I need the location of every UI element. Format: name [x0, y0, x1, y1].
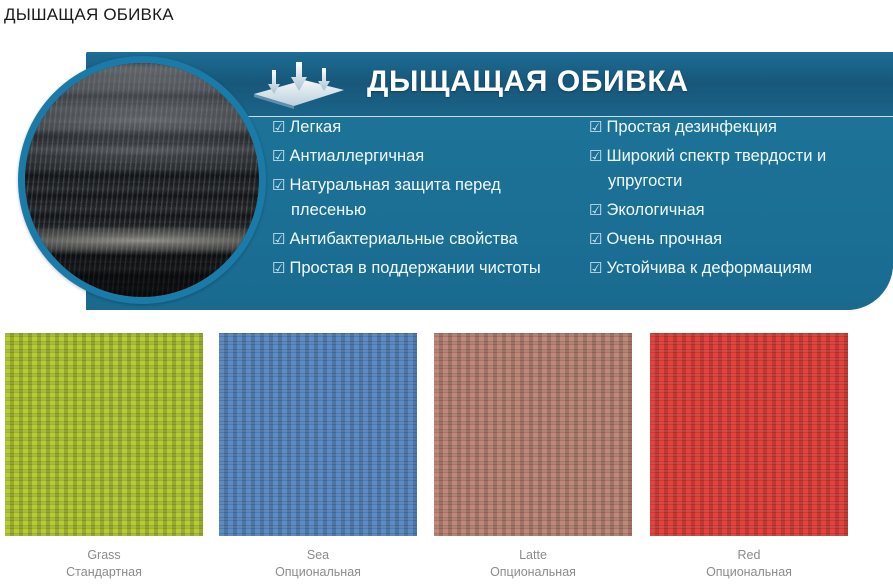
swatch-name: Red: [650, 547, 848, 564]
swatch-sea[interactable]: Sea Опциональная: [219, 333, 417, 581]
swatch-caption: Red Опциональная: [650, 536, 848, 581]
color-swatch-row: Grass Стандартная Sea Опциональная Latte…: [0, 333, 893, 586]
swatch-name: Latte: [434, 547, 632, 564]
feature-item: ☑Антибактериальные свойства: [272, 227, 562, 252]
feature-label: Простая дезинфекция: [606, 118, 776, 136]
feature-item: ☑Устойчива к деформациям: [589, 256, 884, 281]
feature-item: ☑Антиаллергичная: [272, 144, 562, 169]
fabric-texture: [25, 63, 259, 297]
swatch-tile[interactable]: [434, 333, 632, 536]
swatch-availability: Опциональная: [219, 564, 417, 581]
swatch-name: Grass: [5, 547, 203, 564]
swatch-tile[interactable]: [219, 333, 417, 536]
swatch-tile[interactable]: [650, 333, 848, 536]
swatch-availability: Опциональная: [650, 564, 848, 581]
swatch-caption: Latte Опциональная: [434, 536, 632, 581]
swatch-latte[interactable]: Latte Опциональная: [434, 333, 632, 581]
breathability-arrows-icon: [250, 60, 348, 112]
checkbox-icon: ☑: [272, 231, 285, 248]
feature-item: ☑Легкая: [272, 115, 562, 140]
swatch-availability: Опциональная: [434, 564, 632, 581]
checkbox-icon: ☑: [272, 148, 285, 165]
feature-label: Натуральная защита перед плесенью: [289, 176, 500, 219]
checkbox-icon: ☑: [272, 260, 285, 277]
photo-shadow-bottom: [25, 236, 259, 297]
swatch-caption: Grass Стандартная: [5, 536, 203, 581]
feature-label: Антиаллергичная: [289, 147, 424, 165]
checkbox-icon: ☑: [589, 260, 602, 277]
swatch-red[interactable]: Red Опциональная: [650, 333, 848, 581]
feature-label: Антибактериальные свойства: [289, 230, 517, 248]
feature-label: Очень прочная: [606, 230, 722, 248]
swatch-name: Sea: [219, 547, 417, 564]
checkbox-icon: ☑: [589, 119, 602, 136]
feature-item: ☑Простая дезинфекция: [589, 115, 884, 140]
banner-title: ДЫЩАЩАЯ ОБИВКА: [367, 65, 689, 99]
checkbox-icon: ☑: [272, 177, 285, 194]
feature-item: ☑Широкий спектр твердости и упругости: [589, 144, 884, 194]
feature-item: ☑Простая в поддержании чистоты: [272, 256, 562, 281]
feature-item: ☑Очень прочная: [589, 227, 884, 252]
feature-label: Широкий спектр твердости и упругости: [606, 147, 826, 190]
checkbox-icon: ☑: [589, 231, 602, 248]
feature-column-left: ☑Легкая ☑Антиаллергичная ☑Натуральная за…: [272, 115, 562, 285]
checkbox-icon: ☑: [272, 119, 285, 136]
photo-highlight-top: [25, 63, 259, 143]
feature-label: Простая в поддержании чистоты: [289, 259, 540, 277]
feature-label: Экологичная: [606, 201, 704, 219]
swatch-tile[interactable]: [5, 333, 203, 536]
feature-item: ☑Экологичная: [589, 198, 884, 223]
checkbox-icon: ☑: [589, 202, 602, 219]
swatch-availability: Стандартная: [5, 564, 203, 581]
swatch-caption: Sea Опциональная: [219, 536, 417, 581]
swatch-grass[interactable]: Grass Стандартная: [5, 333, 203, 581]
feature-column-right: ☑Простая дезинфекция ☑Широкий спектр тве…: [589, 115, 884, 285]
checkbox-icon: ☑: [589, 148, 602, 165]
page-title: ДЫШАЩАЯ ОБИВКА: [4, 4, 174, 26]
feature-label: Легкая: [289, 118, 341, 136]
feature-label: Устойчива к деформациям: [606, 259, 812, 277]
feature-item: ☑Натуральная защита перед плесенью: [272, 173, 562, 223]
fabric-macro-photo: [18, 56, 266, 304]
product-fabric-sheet: ДЫШАЩАЯ ОБИВКА: [0, 0, 893, 586]
